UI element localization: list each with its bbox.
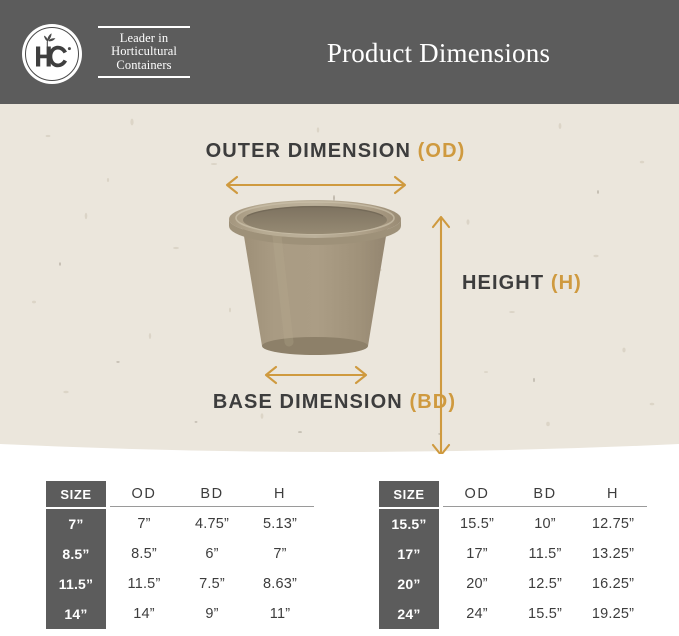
- cell-h: 11”: [246, 599, 314, 629]
- base-dimension-arrow: [258, 362, 374, 388]
- cell-h: 8.63”: [246, 569, 314, 599]
- cell-h: 16.25”: [579, 569, 647, 599]
- cell-size: 7”: [46, 509, 106, 539]
- cell-bd: 10”: [511, 509, 579, 539]
- cell-size: 14”: [46, 599, 106, 629]
- table-row: 11.5” 11.5” 7.5” 8.63”: [46, 569, 314, 599]
- cell-bd: 6”: [178, 539, 246, 569]
- table-body: 15.5” 15.5” 10” 12.75” 17” 17” 11.5” 13.…: [379, 509, 647, 629]
- base-dimension-label: BASE DIMENSION (BD): [0, 391, 679, 414]
- column-header-size: SIZE: [46, 481, 106, 507]
- cell-od: 15.5”: [443, 509, 511, 539]
- table-row: 14” 14” 9” 11”: [46, 599, 314, 629]
- cell-bd: 12.5”: [511, 569, 579, 599]
- diagram-panel: OUTER DIMENSION (OD) HEIGHT (H) BASE DIM…: [0, 104, 679, 454]
- cell-od: 20”: [443, 569, 511, 599]
- table-row: 17” 17” 11.5” 13.25”: [379, 539, 647, 569]
- height-label: HEIGHT (H): [462, 272, 582, 295]
- table-row: 7” 7” 4.75” 5.13”: [46, 509, 314, 539]
- cell-od: 14”: [110, 599, 178, 629]
- outer-dimension-label: OUTER DIMENSION (OD): [0, 140, 679, 163]
- column-header-h: H: [579, 481, 647, 507]
- column-header-bd: BD: [178, 481, 246, 507]
- outer-dimension-text: OUTER DIMENSION: [206, 140, 411, 162]
- cell-h: 13.25”: [579, 539, 647, 569]
- table-body: 7” 7” 4.75” 5.13” 8.5” 8.5” 6” 7” 11.5” …: [46, 509, 314, 629]
- outer-dimension-arrow: [218, 172, 414, 198]
- height-abbr: (H): [551, 272, 582, 294]
- cell-od: 24”: [443, 599, 511, 629]
- planter-pot-illustration: [215, 196, 415, 366]
- cell-od: 8.5”: [110, 539, 178, 569]
- cell-size: 15.5”: [379, 509, 439, 539]
- height-arrow: [428, 208, 454, 454]
- table-row: 15.5” 15.5” 10” 12.75”: [379, 509, 647, 539]
- table-row: 8.5” 8.5” 6” 7”: [46, 539, 314, 569]
- base-dimension-abbr: (BD): [409, 391, 456, 413]
- base-dimension-text: BASE DIMENSION: [213, 391, 403, 413]
- cell-od: 11.5”: [110, 569, 178, 599]
- column-header-od: OD: [443, 481, 511, 507]
- size-table-right: SIZE OD BD H 15.5” 15.5” 10” 12.75” 17” …: [379, 481, 647, 629]
- cell-size: 11.5”: [46, 569, 106, 599]
- cell-size: 20”: [379, 569, 439, 599]
- cell-h: 12.75”: [579, 509, 647, 539]
- table-header-row: SIZE OD BD H: [379, 481, 647, 507]
- column-header-h: H: [246, 481, 314, 507]
- cell-bd: 9”: [178, 599, 246, 629]
- cell-h: 19.25”: [579, 599, 647, 629]
- table-row: 20” 20” 12.5” 16.25”: [379, 569, 647, 599]
- cell-bd: 7.5”: [178, 569, 246, 599]
- page-title: Product Dimensions: [0, 38, 679, 69]
- column-header-bd: BD: [511, 481, 579, 507]
- cell-size: 17”: [379, 539, 439, 569]
- table-header-row: SIZE OD BD H: [46, 481, 314, 507]
- cell-od: 17”: [443, 539, 511, 569]
- cell-od: 7”: [110, 509, 178, 539]
- size-table-left: SIZE OD BD H 7” 7” 4.75” 5.13” 8.5” 8.5”…: [46, 481, 314, 629]
- header-bar: Leader in Horticultural Containers Produ…: [0, 0, 679, 104]
- column-header-size: SIZE: [379, 481, 439, 507]
- cell-size: 8.5”: [46, 539, 106, 569]
- table-row: 24” 24” 15.5” 19.25”: [379, 599, 647, 629]
- header-divider: [110, 506, 314, 507]
- cell-bd: 4.75”: [178, 509, 246, 539]
- cell-h: 7”: [246, 539, 314, 569]
- cell-bd: 15.5”: [511, 599, 579, 629]
- outer-dimension-abbr: (OD): [418, 140, 466, 162]
- cell-h: 5.13”: [246, 509, 314, 539]
- tagline-rule-bottom: [98, 76, 190, 78]
- header-divider: [443, 506, 647, 507]
- cell-bd: 11.5”: [511, 539, 579, 569]
- cell-size: 24”: [379, 599, 439, 629]
- height-text: HEIGHT: [462, 272, 544, 294]
- column-header-od: OD: [110, 481, 178, 507]
